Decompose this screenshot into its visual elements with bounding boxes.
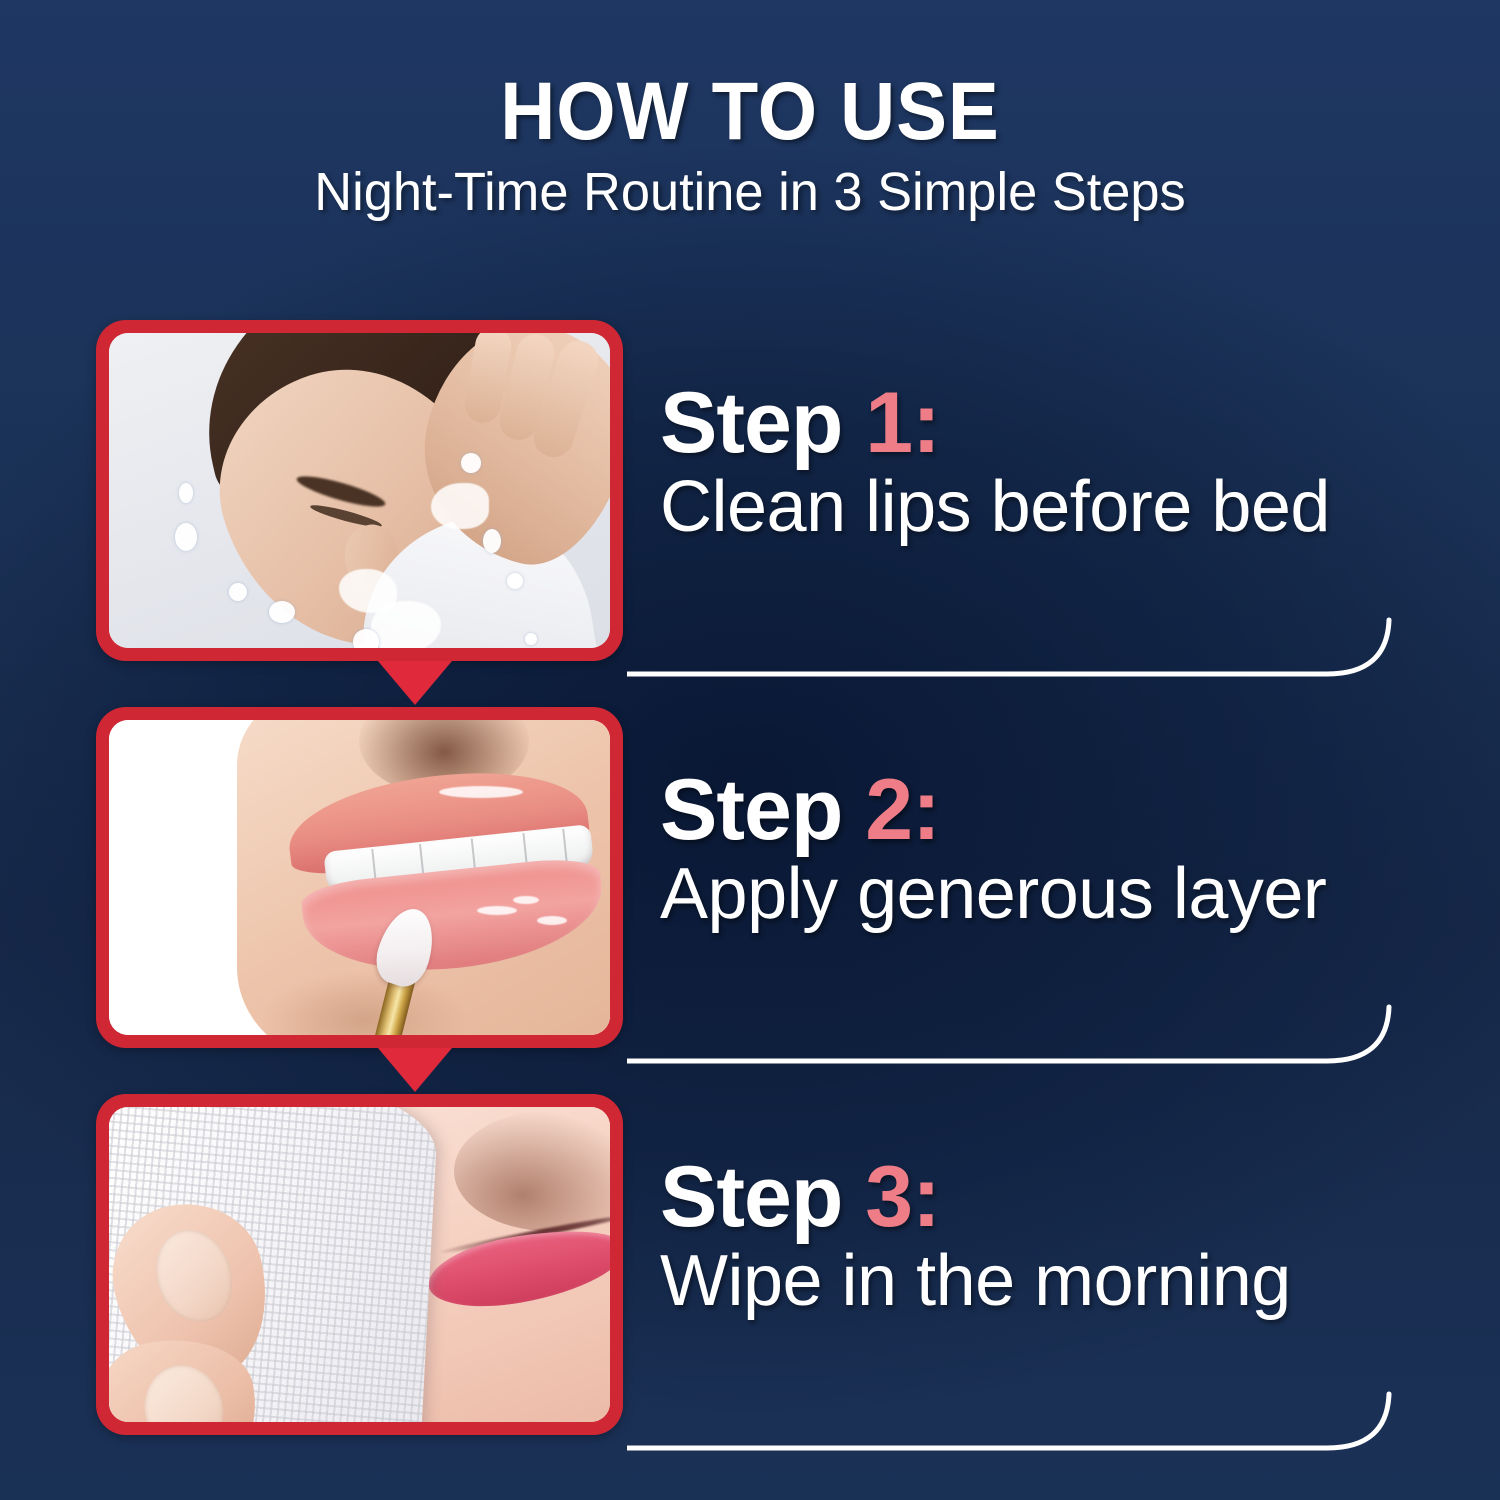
step-1-image — [109, 333, 610, 648]
step-3-text: Step 3: Wipe in the morning — [660, 1154, 1450, 1320]
step-3-number: 3: — [865, 1149, 939, 1245]
step-3-image-card — [96, 1094, 623, 1435]
step-1-label: Step — [660, 375, 842, 471]
step-connector-arrow-2 — [378, 1048, 452, 1092]
step-2-heading: Step 2: — [660, 767, 1450, 853]
step-connector-arrow-1 — [378, 661, 452, 705]
header: HOW TO USE Night-Time Routine in 3 Simpl… — [0, 72, 1500, 221]
step-2-image — [109, 720, 610, 1035]
water-splash — [431, 483, 489, 529]
water-droplet — [507, 573, 523, 589]
step-3-label: Step — [660, 1149, 842, 1245]
water-splash — [371, 601, 441, 648]
step-2-description: Apply generous layer — [660, 857, 1450, 933]
step-1-heading: Step 1: — [660, 380, 1450, 466]
step-1-description: Clean lips before bed — [660, 470, 1450, 546]
step-2-underline — [627, 999, 1417, 1075]
step-1-underline — [627, 612, 1417, 688]
water-droplet — [229, 583, 247, 601]
how-to-use-infographic: HOW TO USE Night-Time Routine in 3 Simpl… — [0, 0, 1500, 1500]
step-3-heading: Step 3: — [660, 1154, 1450, 1240]
step-2-image-card — [96, 707, 623, 1048]
chin-shadow — [259, 970, 469, 1035]
step-row-1: Step 1: Clean lips before bed — [0, 320, 1500, 660]
lip-gloss-highlight — [537, 916, 567, 925]
washing-face-photo — [109, 333, 610, 648]
lip-applicator-photo — [109, 720, 610, 1035]
page-title: HOW TO USE — [53, 72, 1448, 152]
page-subtitle: Night-Time Routine in 3 Simple Steps — [23, 164, 1478, 221]
lip-gloss-highlight — [477, 906, 517, 915]
water-droplet — [269, 601, 295, 623]
step-3-image — [109, 1107, 610, 1422]
water-droplet — [525, 633, 537, 645]
step-2-text: Step 2: Apply generous layer — [660, 767, 1450, 933]
step-1-text: Step 1: Clean lips before bed — [660, 380, 1450, 546]
step-row-3: Step 3: Wipe in the morning — [0, 1094, 1500, 1434]
lip-gloss-highlight — [513, 896, 539, 904]
water-droplet — [175, 523, 197, 551]
step-3-underline — [627, 1386, 1417, 1462]
water-droplet — [353, 629, 379, 648]
step-1-number: 1: — [865, 375, 939, 471]
step-3-description: Wipe in the morning — [660, 1244, 1450, 1320]
step-2-number: 2: — [865, 762, 939, 858]
water-droplet — [179, 483, 193, 503]
towel-wipe-photo — [109, 1107, 610, 1422]
water-droplet — [461, 453, 481, 473]
lip-gloss-highlight — [439, 786, 523, 798]
step-row-2: Step 2: Apply generous layer — [0, 707, 1500, 1047]
step-2-label: Step — [660, 762, 842, 858]
water-droplet — [483, 529, 501, 553]
step-1-image-card — [96, 320, 623, 661]
